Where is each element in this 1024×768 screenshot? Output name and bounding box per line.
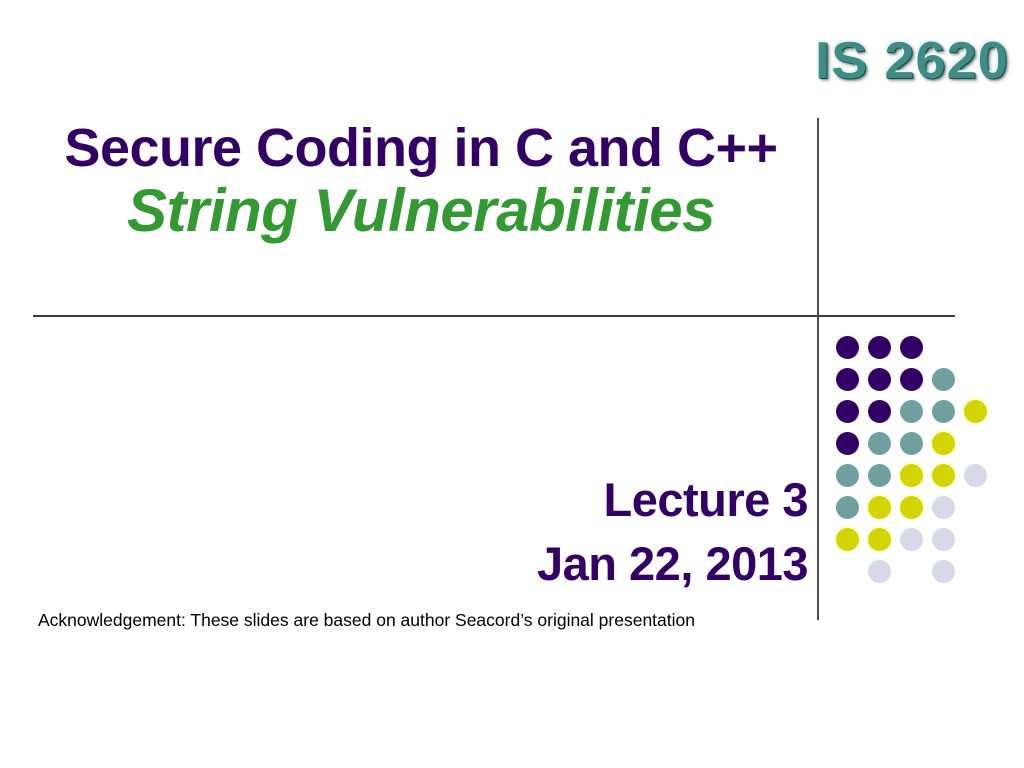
dot-teal: [932, 400, 955, 423]
dot-teal: [900, 432, 923, 455]
slide-title: Secure Coding in C and C++ String Vulner…: [30, 120, 812, 246]
dot-purple: [836, 432, 859, 455]
dot-teal: [900, 400, 923, 423]
decorative-dot-grid: [836, 336, 1006, 598]
lecture-number: Lecture 3: [300, 468, 808, 532]
acknowledgement-text: Acknowledgement: These slides are based …: [38, 608, 778, 633]
vertical-divider: [817, 118, 819, 620]
dot-yellow: [900, 496, 923, 519]
dot-teal: [868, 432, 891, 455]
dot-teal: [836, 496, 859, 519]
dot-lavender: [868, 560, 891, 583]
dot-yellow: [932, 432, 955, 455]
dot-lavender: [932, 528, 955, 551]
dot-yellow: [836, 528, 859, 551]
dot-yellow: [868, 528, 891, 551]
title-line-subject: String Vulnerabilities: [30, 176, 812, 246]
lecture-date: Jan 22, 2013: [300, 532, 808, 596]
dot-lavender: [932, 560, 955, 583]
dot-purple: [836, 368, 859, 391]
title-line-primary: Secure Coding in C and C++: [30, 120, 812, 176]
dot-teal: [868, 464, 891, 487]
dot-purple: [868, 400, 891, 423]
dot-teal: [932, 368, 955, 391]
dot-purple: [868, 336, 891, 359]
lecture-info: Lecture 3 Jan 22, 2013: [300, 468, 808, 596]
dot-yellow: [868, 496, 891, 519]
dot-purple: [868, 368, 891, 391]
dot-yellow: [964, 400, 987, 423]
course-logo-text: IS 2620: [808, 26, 1016, 96]
dot-yellow: [900, 464, 923, 487]
course-logo: IS 2620: [812, 26, 1012, 96]
dot-lavender: [932, 496, 955, 519]
dot-purple: [836, 400, 859, 423]
dot-lavender: [900, 528, 923, 551]
dot-purple: [900, 336, 923, 359]
dot-purple: [836, 336, 859, 359]
dot-purple: [900, 368, 923, 391]
slide-canvas: IS 2620 Secure Coding in C and C++ Strin…: [0, 0, 1024, 768]
dot-teal: [836, 464, 859, 487]
dot-lavender: [964, 464, 987, 487]
dot-yellow: [932, 464, 955, 487]
